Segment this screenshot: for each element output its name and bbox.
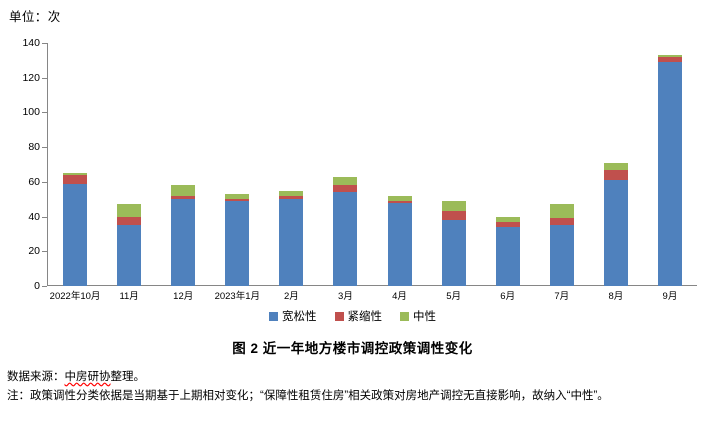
data-source-prefix: 数据来源： <box>7 371 65 383</box>
y-tick-label: 20 <box>28 246 40 256</box>
x-tick-label: 9月 <box>663 288 678 302</box>
bar-segment-neutral <box>117 204 141 216</box>
bar-segment-tight <box>442 211 466 220</box>
bar-stack <box>442 201 466 286</box>
y-tick-mark <box>42 251 47 252</box>
x-tick-label: 2月 <box>284 288 299 302</box>
bar-segment-neutral <box>550 204 574 218</box>
bar-segment-loose <box>442 220 466 286</box>
legend-item-tight[interactable]: 紧缩性 <box>335 308 383 324</box>
y-tick-label: 40 <box>28 212 40 222</box>
data-source-line: 数据来源：中房研协整理。 <box>7 369 699 387</box>
legend-swatch-loose <box>269 312 278 321</box>
note-line: 注：政策调性分类依据是当期基于上期相对变化；“保障性租赁住房”相关政策对房地产调… <box>7 388 699 406</box>
x-tick-label: 2022年10月 <box>50 288 101 302</box>
bar-stack <box>496 217 520 286</box>
bar-segment-loose <box>279 199 303 286</box>
x-axis: 2022年10月11月12月2023年1月2月3月4月5月6月7月8月9月 <box>48 288 697 306</box>
x-tick-label: 11月 <box>119 288 138 302</box>
figure-caption: 图 2 近一年地方楼市调控政策调性变化 <box>0 337 705 357</box>
legend-swatch-tight <box>335 312 344 321</box>
chart-legend: 宽松性紧缩性中性 <box>0 306 705 326</box>
x-tick-label: 3月 <box>338 288 353 302</box>
bar-segment-loose <box>117 225 141 286</box>
bar-segment-loose <box>63 184 87 286</box>
bar-stack <box>117 204 141 286</box>
legend-item-neutral[interactable]: 中性 <box>400 308 436 324</box>
bar-segment-neutral <box>333 177 357 186</box>
bar-segment-loose <box>496 227 520 286</box>
x-tick-label: 2023年1月 <box>215 288 260 302</box>
y-tick-label: 0 <box>34 281 40 291</box>
bar-stack <box>550 204 574 286</box>
x-tick-label: 7月 <box>554 288 569 302</box>
bar-stack <box>63 173 87 286</box>
y-tick-label: 140 <box>22 38 40 48</box>
x-tick-label: 8月 <box>608 288 623 302</box>
bar-segment-neutral <box>171 185 195 195</box>
bar-segment-loose <box>388 203 412 286</box>
bar-segment-loose <box>171 199 195 286</box>
x-tick-label: 5月 <box>446 288 461 302</box>
legend-swatch-neutral <box>400 312 409 321</box>
y-axis: 020406080100120140 <box>0 38 46 286</box>
y-tick-mark <box>42 112 47 113</box>
y-tick-mark <box>42 286 47 287</box>
x-tick-label: 12月 <box>173 288 193 302</box>
bar-stack <box>333 177 357 286</box>
data-source-value: 中房研协 <box>65 371 111 383</box>
legend-label: 中性 <box>413 308 436 324</box>
bar-stack <box>279 191 303 286</box>
plot-area <box>48 43 697 286</box>
bar-segment-tight <box>550 218 574 225</box>
y-tick-mark <box>42 78 47 79</box>
bar-segment-loose <box>550 225 574 286</box>
y-tick-label: 100 <box>22 107 40 117</box>
unit-label: 单位：次 <box>9 6 61 25</box>
footer-notes: 数据来源：中房研协整理。 注：政策调性分类依据是当期基于上期相对变化；“保障性租… <box>7 369 699 405</box>
bar-stack <box>171 185 195 286</box>
bar-segment-loose <box>604 180 628 286</box>
bar-stack <box>388 196 412 286</box>
bar-segment-tight <box>117 217 141 226</box>
bar-segment-neutral <box>604 163 628 170</box>
y-tick-mark <box>42 43 47 44</box>
bar-stack <box>225 194 249 286</box>
y-tick-label: 120 <box>22 73 40 83</box>
x-tick-label: 6月 <box>500 288 515 302</box>
bar-segment-loose <box>333 192 357 286</box>
bar-segment-tight <box>333 185 357 192</box>
bar-stack <box>658 55 682 286</box>
legend-item-loose[interactable]: 宽松性 <box>269 308 317 324</box>
data-source-suffix: 整理。 <box>111 371 146 383</box>
x-tick-label: 4月 <box>392 288 407 302</box>
y-tick-mark <box>42 182 47 183</box>
y-tick-label: 80 <box>28 142 40 152</box>
y-tick-label: 60 <box>28 177 40 187</box>
legend-label: 紧缩性 <box>348 308 383 324</box>
bar-segment-loose <box>225 201 249 286</box>
bar-segment-tight <box>604 170 628 180</box>
bar-chart: 020406080100120140 2022年10月11月12月2023年1月… <box>0 38 705 306</box>
bar-segment-loose <box>658 62 682 286</box>
bar-segment-tight <box>63 175 87 184</box>
bar-stack <box>604 163 628 286</box>
bar-segment-neutral <box>442 201 466 211</box>
y-tick-mark <box>42 217 47 218</box>
legend-label: 宽松性 <box>282 308 317 324</box>
y-tick-mark <box>42 147 47 148</box>
